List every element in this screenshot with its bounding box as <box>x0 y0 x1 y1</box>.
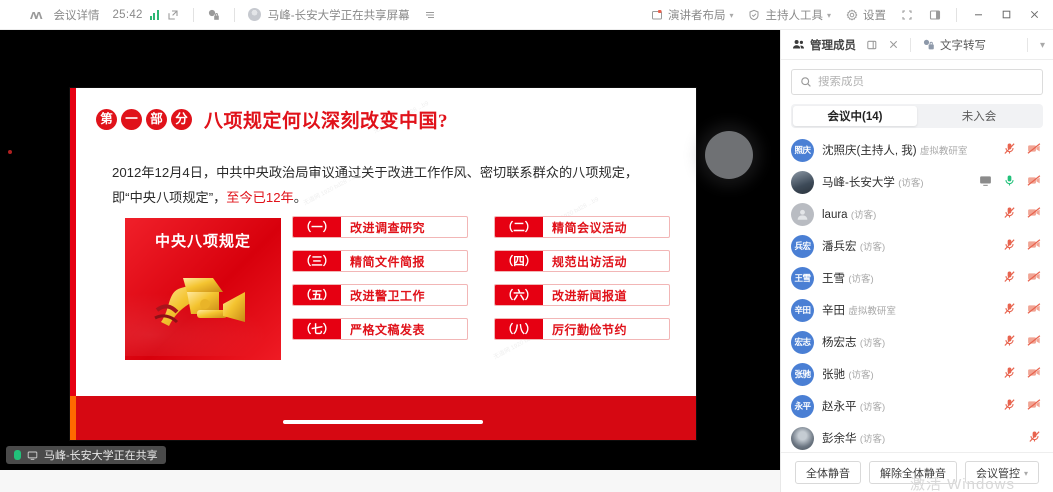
list-item[interactable]: 张驰 张驰 (访客) <box>781 358 1053 390</box>
list-item[interactable]: laura (访客) <box>781 198 1053 230</box>
screen-share-icon <box>27 450 38 461</box>
signal-strength-icon[interactable] <box>150 9 159 20</box>
meeting-timer: 25:42 <box>112 9 142 21</box>
regulation-text: 改进调查研究 <box>341 217 467 237</box>
screen-share-icon[interactable] <box>979 174 992 190</box>
participant-list[interactable]: 照庆 沈照庆(主持人, 我) 虚拟教研室 <box>781 132 1053 452</box>
regulation-item: （八） 厉行勤俭节约 <box>494 318 670 340</box>
participant-org: (访客) <box>860 402 885 413</box>
mic-muted-icon[interactable] <box>1003 238 1016 254</box>
central-eight-rules-emblem: 中央八项规定 <box>125 218 281 360</box>
segment-not-joined-label: 未入会 <box>962 108 997 124</box>
regulation-text: 精简文件简报 <box>341 251 467 271</box>
divider <box>234 8 235 22</box>
participant-name: 潘兵宏 <box>822 241 857 253</box>
participant-org: (访客) <box>848 274 873 285</box>
paragraph-line-2-pre: 即“中央八项规定”， <box>112 190 226 205</box>
camera-off-icon[interactable] <box>1027 206 1041 222</box>
camera-off-icon[interactable] <box>1027 366 1041 382</box>
avatar: 兵宏 <box>791 235 814 258</box>
sharing-status-label: 马峰-长安大学正在共享 <box>44 447 158 463</box>
stage-indicator-dot <box>8 150 12 154</box>
avatar <box>791 203 814 226</box>
slide-left-accent <box>70 88 76 440</box>
self-video-tile[interactable] <box>692 118 766 192</box>
list-item[interactable]: 永平 赵永平 (访客) <box>781 390 1053 422</box>
camera-off-icon[interactable] <box>1027 302 1041 318</box>
app-logo-icon: ᴧᴧ <box>30 7 40 22</box>
participant-org: (访客) <box>860 434 885 445</box>
list-item[interactable]: 马峰-长安大学 (访客) <box>781 166 1053 198</box>
divider <box>193 8 194 22</box>
regulation-number: （二） <box>495 217 543 237</box>
divider <box>956 8 957 22</box>
shield-icon <box>747 8 761 22</box>
camera-off-icon[interactable] <box>1027 398 1041 414</box>
people-icon <box>791 38 805 52</box>
participant-name: laura <box>822 209 848 221</box>
participant-name: 张驰 <box>822 369 845 381</box>
participant-name: 王雪 <box>822 273 845 285</box>
meeting-control-label: 会议管控 <box>976 465 1020 481</box>
avatar: 照庆 <box>791 139 814 162</box>
regulation-text: 精简会议活动 <box>543 217 669 237</box>
avatar: 永平 <box>791 395 814 418</box>
regulations-grid: （一） 改进调查研究 （二） 精简会议活动 （三） 精简文件简报 （四） 规范出… <box>292 216 670 340</box>
unmute-all-button[interactable]: 解除全体静音 <box>869 461 957 484</box>
segment-in-meeting[interactable]: 会议中(14) <box>793 106 917 126</box>
list-item[interactable]: 照庆 沈照庆(主持人, 我) 虚拟教研室 <box>781 134 1053 166</box>
mic-muted-icon[interactable] <box>1003 270 1016 286</box>
avatar: 张驰 <box>791 363 814 386</box>
mute-all-button[interactable]: 全体静音 <box>795 461 861 484</box>
camera-off-icon[interactable] <box>1027 270 1041 286</box>
segment-in-meeting-label: 会议中(14) <box>828 108 883 124</box>
regulation-number: （一） <box>293 217 341 237</box>
meeting-details-button[interactable]: 会议详情 <box>47 4 105 26</box>
avatar <box>705 131 753 179</box>
settings-label: 设置 <box>863 7 886 23</box>
title-chip: 第 <box>96 109 117 130</box>
slide-title-row: 第 一 部 分 八项规定何以深刻改变中国? <box>96 106 448 133</box>
regulation-item: （五） 改进警卫工作 <box>292 284 468 306</box>
divider <box>910 38 911 52</box>
list-item[interactable]: 兵宏 潘兵宏 (访客) <box>781 230 1053 262</box>
host-tools-label: 主持人工具 <box>765 7 823 23</box>
sharing-notice: 马峰-长安大学正在共享屏幕 <box>268 4 416 26</box>
tab-manage-members-label: 管理成员 <box>810 37 856 53</box>
side-panel-button[interactable] <box>922 5 948 25</box>
regulation-text: 改进警卫工作 <box>341 285 467 305</box>
slide-paragraph: 2012年12月4日，中共中央政治局审议通过关于改进工作作风、密切联系群众的八项… <box>112 160 660 210</box>
layout-icon <box>650 8 664 22</box>
participant-name: 彭余华 <box>822 433 857 445</box>
divider <box>1027 38 1028 52</box>
camera-off-icon[interactable] <box>1027 334 1041 350</box>
chevron-down-icon[interactable]: ▾ <box>1040 40 1045 51</box>
mute-all-label: 全体静音 <box>806 465 850 481</box>
close-panel-icon[interactable] <box>886 38 900 52</box>
title-chip: 一 <box>121 109 142 130</box>
mic-muted-icon[interactable] <box>1003 398 1016 414</box>
chevron-down-icon: ▾ <box>1024 469 1028 478</box>
sharing-status-pill[interactable]: 马峰-长安大学正在共享 <box>6 446 166 464</box>
shared-slide: 无道网 1920 bd28 ...b9 无道网 1920 bd28 ...b9 … <box>70 88 696 440</box>
participant-org: (访客) <box>848 370 873 381</box>
regulation-text: 改进新闻报道 <box>543 285 669 305</box>
title-chip: 分 <box>171 109 192 130</box>
regulation-text: 规范出访活动 <box>543 251 669 271</box>
participants-panel: 管理成员 <box>780 30 1053 492</box>
chevron-down-icon: ▾ <box>729 11 733 20</box>
meeting-app-window: ᴧᴧ 会议详情 25:42 马峰-长安大学 <box>0 0 1053 492</box>
golden-trumpet-icon <box>153 260 253 344</box>
tab-transcription-label: 文字转写 <box>940 37 986 53</box>
participant-name: 马峰-长安大学 <box>822 177 895 189</box>
mic-muted-icon[interactable] <box>1003 142 1016 158</box>
participant-name: 沈照庆(主持人, 我) <box>822 145 917 157</box>
gear-icon <box>845 8 859 22</box>
transcribe-icon <box>921 38 935 52</box>
participant-name: 杨宏志 <box>822 337 857 349</box>
participant-org: (访客) <box>851 210 876 221</box>
list-item[interactable]: 辛田 辛田 虚拟教研室 <box>781 294 1053 326</box>
fullscreen-button[interactable] <box>894 5 920 25</box>
participant-org: 虚拟教研室 <box>920 146 968 157</box>
regulation-item: （七） 严格文稿发表 <box>292 318 468 340</box>
paragraph-highlight: 至今已12年 <box>226 190 293 205</box>
slide-canvas: 无道网 1920 bd28 ...b9 无道网 1920 bd28 ...b9 … <box>70 88 696 440</box>
regulation-item: （三） 精简文件简报 <box>292 250 468 272</box>
list-item[interactable]: 彭余华 (访客) <box>781 422 1053 452</box>
unmute-all-label: 解除全体静音 <box>880 465 946 481</box>
title-chip: 部 <box>146 109 167 130</box>
regulation-number: （四） <box>495 251 543 271</box>
close-button[interactable] <box>1021 4 1047 26</box>
regulation-number: （三） <box>293 251 341 271</box>
participant-org: (访客) <box>860 242 885 253</box>
popout-panel-icon[interactable] <box>865 38 879 52</box>
search-area <box>781 60 1053 101</box>
avatar <box>791 171 814 194</box>
search-box[interactable] <box>791 69 1043 95</box>
paragraph-line-1: 2012年12月4日，中共中央政治局审议通过关于改进工作作风、密切联系群众的八项… <box>112 165 638 180</box>
avatar: 王雪 <box>791 267 814 290</box>
search-input[interactable] <box>818 76 1034 88</box>
top-toolbar: ᴧᴧ 会议详情 25:42 马峰-长安大学 <box>0 0 1053 30</box>
fullscreen-icon <box>900 8 914 22</box>
mic-muted-icon[interactable] <box>1003 366 1016 382</box>
bottom-bar <box>0 470 780 492</box>
camera-off-icon[interactable] <box>1027 174 1041 190</box>
tab-transcription[interactable]: 文字转写 <box>921 37 986 53</box>
slide-title: 八项规定何以深刻改变中国? <box>204 106 448 133</box>
participant-org: (访客) <box>898 178 923 189</box>
avatar <box>791 427 814 450</box>
panel-tab-bar: 管理成员 <box>781 30 1053 60</box>
participants-segmented-control: 会议中(14) 未入会 <box>791 104 1043 128</box>
side-panel-icon <box>928 8 942 22</box>
participant-name: 辛田 <box>822 305 845 317</box>
mic-muted-icon[interactable] <box>1003 206 1016 222</box>
list-item[interactable]: 宏志 杨宏志 (访客) <box>781 326 1053 358</box>
mic-muted-icon[interactable] <box>1003 302 1016 318</box>
segment-not-joined[interactable]: 未入会 <box>917 106 1041 126</box>
slide-footer-bar <box>283 420 483 424</box>
shared-screen-stage[interactable]: 无道网 1920 bd28 ...b9 无道网 1920 bd28 ...b9 … <box>0 30 780 470</box>
tab-manage-members[interactable]: 管理成员 <box>791 37 856 53</box>
sharing-notice-label: 马峰-长安大学正在共享屏幕 <box>268 7 410 23</box>
regulation-text: 厉行勤俭节约 <box>543 319 669 339</box>
regulation-number: （五） <box>293 285 341 305</box>
regulation-item: （一） 改进调查研究 <box>292 216 468 238</box>
regulation-text: 严格文稿发表 <box>341 319 467 339</box>
camera-off-icon[interactable] <box>1027 142 1041 158</box>
meeting-control-button[interactable]: 会议管控 ▾ <box>965 461 1039 484</box>
paragraph-line-2-post: 。 <box>294 190 307 205</box>
participant-org: 虚拟教研室 <box>848 306 896 317</box>
regulation-number: （八） <box>495 319 543 339</box>
list-item[interactable]: 王雪 王雪 (访客) <box>781 262 1053 294</box>
popout-window-icon[interactable] <box>166 8 180 22</box>
security-shield-icon[interactable] <box>207 8 221 22</box>
mic-muted-icon[interactable] <box>1003 334 1016 350</box>
search-icon <box>800 76 812 88</box>
host-tools-button[interactable]: 主持人工具 ▾ <box>741 4 837 26</box>
microphone-icon <box>14 450 21 460</box>
settings-button[interactable]: 设置 <box>839 4 892 26</box>
regulation-number: （六） <box>495 285 543 305</box>
speaker-layout-label: 演讲者布局 <box>668 7 726 23</box>
mic-on-icon[interactable] <box>1003 174 1016 190</box>
camera-off-icon[interactable] <box>1027 238 1041 254</box>
regulation-number: （七） <box>293 319 341 339</box>
participant-name: 赵永平 <box>822 401 857 413</box>
participant-org: (访客) <box>860 338 885 349</box>
list-menu-icon[interactable] <box>423 8 437 22</box>
avatar: 宏志 <box>791 331 814 354</box>
meeting-details-label: 会议详情 <box>53 7 99 23</box>
chevron-down-icon: ▾ <box>827 11 831 20</box>
emblem-title: 中央八项规定 <box>125 230 281 251</box>
regulation-item: （二） 精简会议活动 <box>494 216 670 238</box>
slide-footer <box>70 396 696 440</box>
panel-footer: 全体静音 解除全体静音 会议管控 ▾ <box>781 452 1053 492</box>
regulation-item: （四） 规范出访活动 <box>494 250 670 272</box>
avatar: 辛田 <box>791 299 814 322</box>
mic-muted-icon[interactable] <box>1028 430 1041 446</box>
minimize-button[interactable] <box>965 4 991 26</box>
sharing-user-avatar <box>248 8 261 21</box>
maximize-button[interactable] <box>993 4 1019 26</box>
speaker-layout-button[interactable]: 演讲者布局 ▾ <box>644 4 740 26</box>
regulation-item: （六） 改进新闻报道 <box>494 284 670 306</box>
